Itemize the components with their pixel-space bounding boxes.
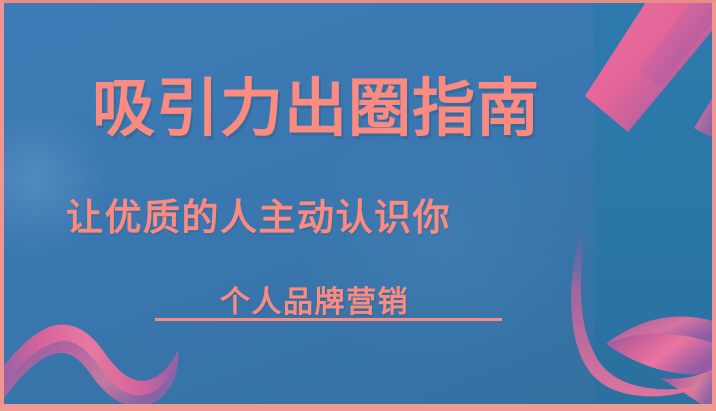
tagline-underline bbox=[155, 318, 502, 321]
poster-title: 吸引力出圈指南 bbox=[92, 78, 540, 141]
poster-subtitle: 让优质的人主动认识你 bbox=[66, 199, 451, 236]
poster-tagline: 个人品牌营销 bbox=[220, 288, 409, 318]
text-content: 吸引力出圈指南 让优质的人主动认识你 个人品牌营销 bbox=[0, 0, 716, 411]
poster-canvas: 吸引力出圈指南 让优质的人主动认识你 个人品牌营销 bbox=[0, 0, 716, 411]
